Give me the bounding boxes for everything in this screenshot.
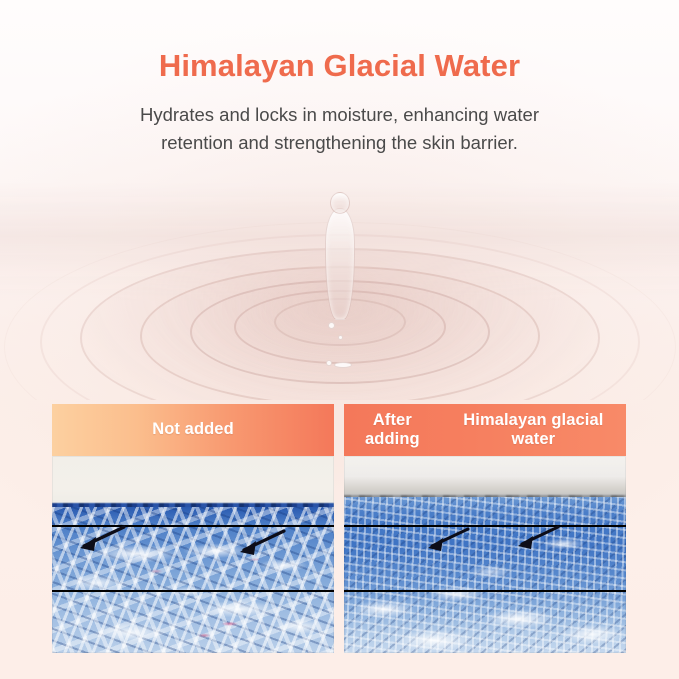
panel-header-not-added: Not added [52, 404, 334, 456]
splash-droplet-2 [338, 335, 343, 340]
measurement-rule-before-bottom [52, 590, 334, 592]
subtitle-line-2: retention and strengthening the skin bar… [161, 132, 518, 153]
annotation-arrow-before-right [234, 528, 286, 558]
water-column [325, 208, 355, 320]
splash-droplet-1 [328, 322, 335, 329]
epidermis-layer-after [344, 456, 626, 501]
comparison-section: Not added After adding Hi [52, 404, 626, 653]
splash-droplet-4 [334, 362, 352, 368]
histology-image-after-adding [344, 456, 626, 653]
annotation-arrow-after-left [422, 526, 470, 554]
dermis-layer-after [344, 497, 626, 653]
measurement-rule-after-top [344, 525, 626, 527]
comparison-panel-after: After adding Himalayan glacial water [344, 404, 626, 653]
page-subtitle: Hydrates and locks in moisture, enhancin… [64, 101, 615, 157]
page-title: Himalayan Glacial Water [0, 48, 679, 84]
water-droplet-hero-image [0, 130, 679, 400]
water-bead-top [330, 192, 350, 214]
subtitle-line-1: Hydrates and locks in moisture, enhancin… [140, 104, 539, 125]
panel-header-after-adding: After adding Himalayan glacial water [344, 404, 626, 456]
epidermis-layer-before [52, 456, 334, 511]
comparison-panel-before: Not added [52, 404, 334, 653]
splash-droplet-3 [326, 360, 332, 366]
panel-header-after-line-1: After adding [344, 411, 441, 449]
histology-image-not-added [52, 456, 334, 653]
annotation-arrow-before-left [74, 524, 126, 554]
annotation-arrow-after-right [512, 524, 560, 552]
measurement-rule-after-bottom [344, 590, 626, 592]
panel-header-after-line-2: Himalayan glacial water [441, 411, 626, 449]
